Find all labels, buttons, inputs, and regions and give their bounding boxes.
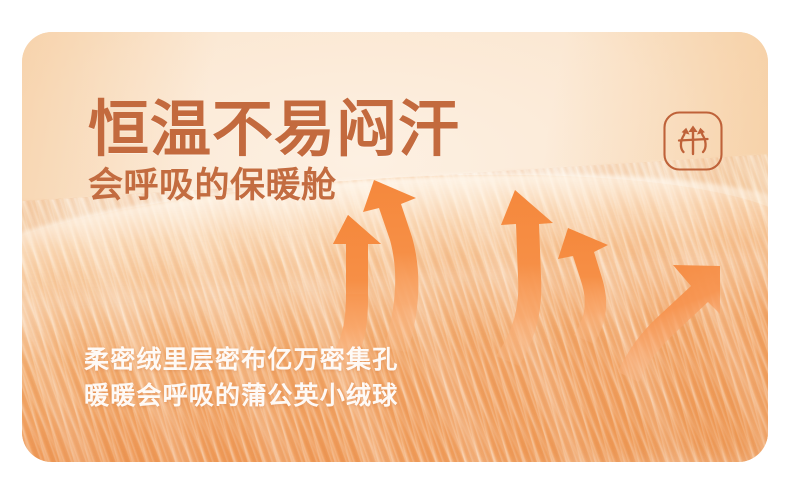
breathability-arrows-icon — [662, 110, 724, 172]
footer-copy-line-1: 柔密绒里层密布亿万密集孔 — [84, 343, 398, 379]
footer-copy-block: 柔密绒里层密布亿万密集孔 暖暖会呼吸的蒲公英小绒球 — [84, 343, 398, 414]
headline-block: 恒温不易闷汗 会呼吸的保暖舱 — [88, 98, 460, 206]
page-subtitle: 会呼吸的保暖舱 — [88, 167, 460, 206]
product-feature-card: 恒温不易闷汗 会呼吸的保暖舱 柔密绒里层密布亿万密集孔 — [22, 32, 768, 462]
footer-copy-line-2: 暖暖会呼吸的蒲公英小绒球 — [84, 379, 398, 415]
page-title: 恒温不易闷汗 — [88, 98, 460, 161]
breathability-badge — [662, 110, 724, 172]
promo-banner: 恒温不易闷汗 会呼吸的保暖舱 柔密绒里层密布亿万密集孔 — [0, 0, 790, 482]
